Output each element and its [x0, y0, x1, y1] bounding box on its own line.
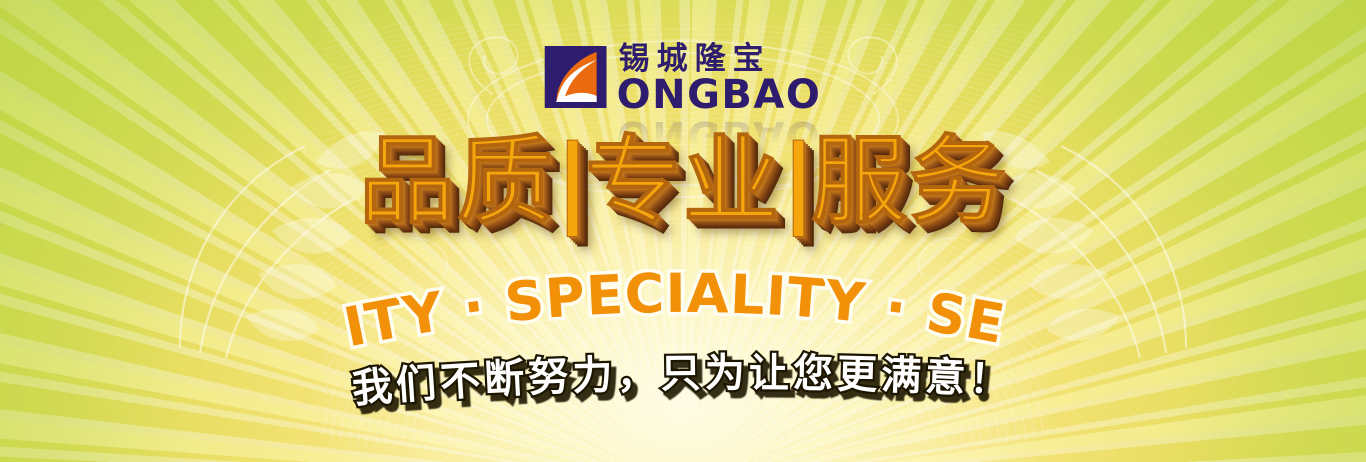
company-logo[interactable]: 锡城隆宝 ONGBAO — [545, 44, 822, 115]
headline-separator-1: | — [555, 133, 585, 229]
english-subtitle-text: QUALITY · SPECIALITY · SERVICE — [0, 222, 1010, 359]
longbao-sail-logo-icon — [545, 46, 607, 108]
tagline: 我们不断努力，只为让您更满意！ — [0, 354, 1366, 414]
headline-separator-2: | — [781, 133, 811, 229]
logo-chinese-name: 锡城隆宝 — [619, 44, 822, 75]
headline-word-service: 服务 — [811, 133, 1007, 229]
english-subtitle: QUALITY · SPECIALITY · SERVICE — [0, 272, 1366, 352]
tagline-textpath: 我们不断努力，只为让您更满意！ — [351, 351, 1015, 413]
subtitle-textpath: QUALITY · SPECIALITY · SERVICE — [0, 222, 1010, 359]
promotional-banner: 锡城隆宝 ONGBAO ONGBAO 品质|专业|服务 QUALITY · SP… — [0, 0, 1366, 462]
tagline-text: 我们不断努力，只为让您更满意！ — [351, 351, 1015, 413]
headline: 品质|专业|服务 — [0, 133, 1366, 229]
logo-english-name: ONGBAO — [617, 76, 822, 115]
headline-word-quality: 品质 — [359, 133, 555, 229]
headline-word-speciality: 专业 — [585, 133, 781, 229]
